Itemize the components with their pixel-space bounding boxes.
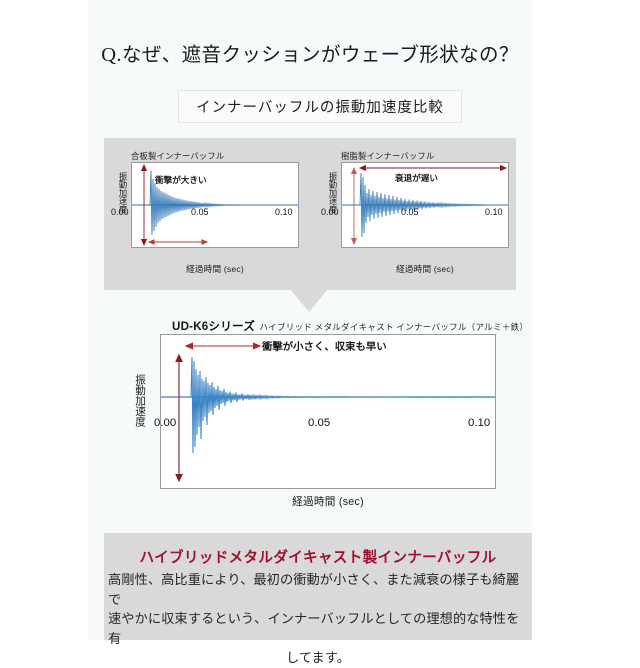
footer-line-1: 高剛性、高比重により、最初の衝動が小さく、また減衰の様子も綺麗で	[108, 570, 528, 609]
main-chart-header: UD-K6シリーズ ハイブリッド メタルダイキャスト インナーバッフル（アルミ＋…	[172, 317, 528, 335]
question-text: なぜ、遮音クッションがウェーブ形状なの？	[122, 44, 519, 66]
chart-left: 合板製インナーバッフル 振動加速度 衝撃が大きい 0	[117, 150, 299, 278]
footer-line-2: 速やかに収束するという、インナーバッフルとしての理想的な特性を有	[108, 609, 528, 648]
chart-left-xlabel: 経過時間 (sec)	[131, 263, 299, 275]
subtitle-box: インナーバッフルの振動加速度比較	[178, 90, 462, 123]
chart-main-tick-2: 0.10	[468, 417, 490, 429]
page-title: Q.なぜ、遮音クッションがウェーブ形状なの？	[88, 38, 532, 67]
chart-main-tick-0: 0.00	[154, 417, 176, 429]
page-root: Q.なぜ、遮音クッションがウェーブ形状なの？ インナーバッフルの振動加速度比較 …	[0, 0, 640, 640]
chart-right: 樹脂製インナーバッフル 振動加速度 衰退が遅い 0.	[327, 150, 509, 278]
chart-right-xlabel: 経過時間 (sec)	[341, 263, 509, 275]
chart-main: 振動加速度 衝撃が小さく、収束も早い 0.00 0.	[160, 334, 496, 514]
chart-left-title: 合板製インナーバッフル	[131, 150, 224, 162]
chart-main-svg	[161, 335, 495, 488]
chart-left-tick-2: 0.10	[275, 207, 293, 217]
chart-right-tick-2: 0.10	[485, 207, 503, 217]
footer-body: 高剛性、高比重により、最初の衝動が小さく、また減衰の様子も綺麗で 速やかに収束す…	[108, 570, 528, 668]
subtitle-text: インナーバッフルの振動加速度比較	[196, 96, 444, 117]
chart-right-tick-0: 0.00	[321, 207, 339, 217]
chart-main-xlabel: 経過時間 (sec)	[160, 494, 496, 509]
chart-right-title: 樹脂製インナーバッフル	[341, 150, 434, 162]
question-prefix: Q.	[101, 44, 122, 66]
chart-left-annotation: 衝撃が大きい	[155, 174, 207, 186]
footer-line-3: してます。	[108, 648, 528, 668]
chart-right-annotation: 衰退が遅い	[395, 172, 438, 184]
chart-left-tick-1: 0.05	[191, 207, 209, 217]
chart-main-plot	[160, 334, 496, 489]
main-chart-description: ハイブリッド メタルダイキャスト インナーバッフル（アルミ＋鉄）	[259, 322, 528, 332]
chart-main-annotation: 衝撃が小さく、収束も早い	[262, 338, 387, 353]
chart-right-tick-1: 0.05	[401, 207, 419, 217]
main-chart-model: UD-K6シリーズ	[172, 320, 255, 333]
chart-left-tick-0: 0.00	[111, 207, 129, 217]
chart-main-ylabel: 振動加速度	[132, 374, 146, 427]
footer-heading: ハイブリッドメタルダイキャスト製インナーバッフル	[104, 546, 532, 567]
panel-arrow-notch	[290, 289, 328, 312]
chart-main-tick-1: 0.05	[308, 417, 330, 429]
